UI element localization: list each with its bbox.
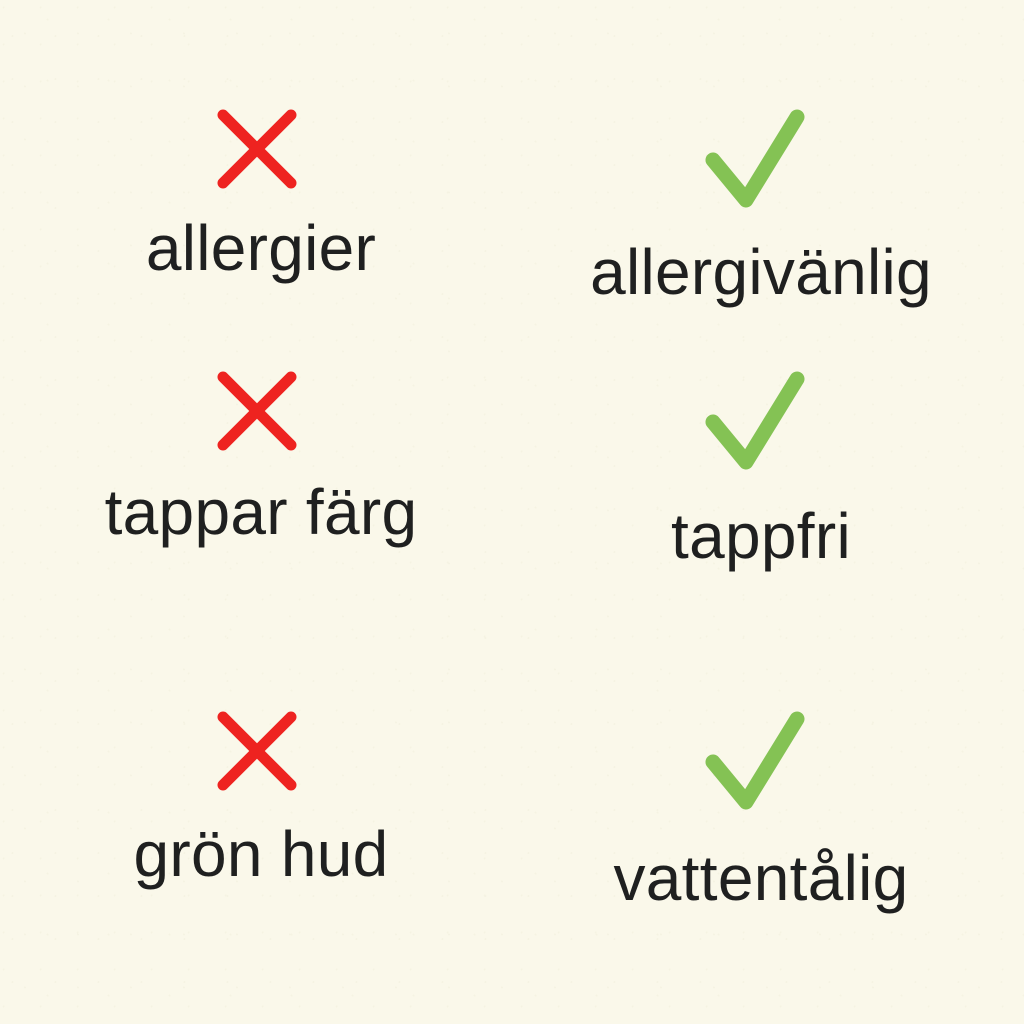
cross-icon	[216, 108, 298, 190]
comparison-label-negative-skin: grön hud	[133, 822, 388, 886]
cross-icon	[216, 370, 298, 452]
comparison-cell-positive-allergy: allergivänlig	[512, 0, 1024, 342]
comparison-label-positive-colour-loss: tappfri	[671, 504, 851, 568]
check-icon	[703, 710, 807, 816]
comparison-label-positive-allergy: allergivänlig	[590, 240, 932, 304]
comparison-cell-negative-allergy: allergier	[0, 0, 512, 342]
comparison-cell-negative-skin: grön hud	[0, 684, 512, 1024]
check-icon	[703, 108, 807, 214]
comparison-cell-negative-colour-loss: tappar färg	[0, 342, 512, 684]
comparison-label-positive-skin: vattentålig	[613, 846, 908, 910]
check-icon	[703, 370, 807, 476]
comparison-grid: allergier allergivänlig tappar färg	[0, 0, 1024, 1024]
comparison-cell-positive-colour-loss: tappfri	[512, 342, 1024, 684]
comparison-cell-positive-skin: vattentålig	[512, 684, 1024, 1024]
comparison-label-negative-allergy: allergier	[146, 216, 376, 280]
cross-icon	[216, 710, 298, 792]
comparison-label-negative-colour-loss: tappar färg	[105, 480, 418, 544]
